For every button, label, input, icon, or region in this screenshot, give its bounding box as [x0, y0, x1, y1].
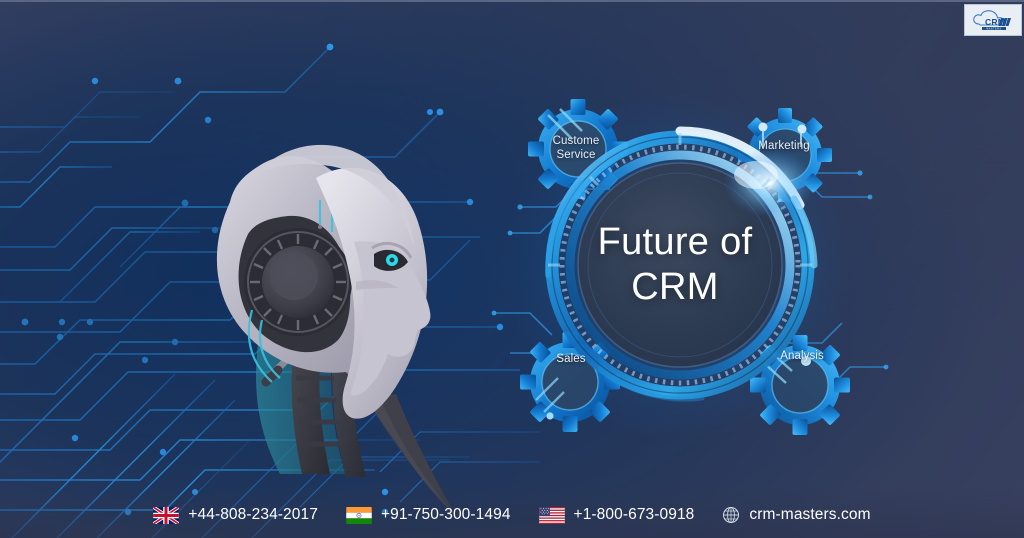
contact-text-india: +91-750-300-1494 — [381, 506, 511, 524]
crm-masters-cloud-logo-icon: CRM MASTERS — [970, 7, 1016, 33]
brand-logo[interactable]: CRM MASTERS — [964, 4, 1022, 36]
contact-item-usa[interactable]: +1-800-673-0918 — [539, 506, 695, 524]
globe-icon — [722, 506, 740, 524]
robot-head-illustration — [170, 82, 490, 522]
contact-item-india[interactable]: +91-750-300-1494 — [346, 506, 511, 524]
banner-canvas: Future of CRM Custome Service Marketing … — [0, 0, 1024, 538]
contact-item-uk[interactable]: +44-808-234-2017 — [153, 506, 318, 524]
contact-text-uk: +44-808-234-2017 — [188, 506, 318, 524]
contact-text-usa: +1-800-673-0918 — [574, 506, 695, 524]
india-flag-icon — [346, 507, 372, 524]
gear-analysis — [750, 335, 850, 435]
crm-hub-graphic — [470, 87, 890, 437]
contact-item-website[interactable]: crm-masters.com — [722, 506, 870, 524]
usa-flag-icon — [539, 507, 565, 524]
contact-bar: +44-808-234-2017 +91-750-300-1494 — [0, 492, 1024, 538]
contact-text-website: crm-masters.com — [749, 506, 870, 524]
uk-flag-icon — [153, 507, 179, 524]
